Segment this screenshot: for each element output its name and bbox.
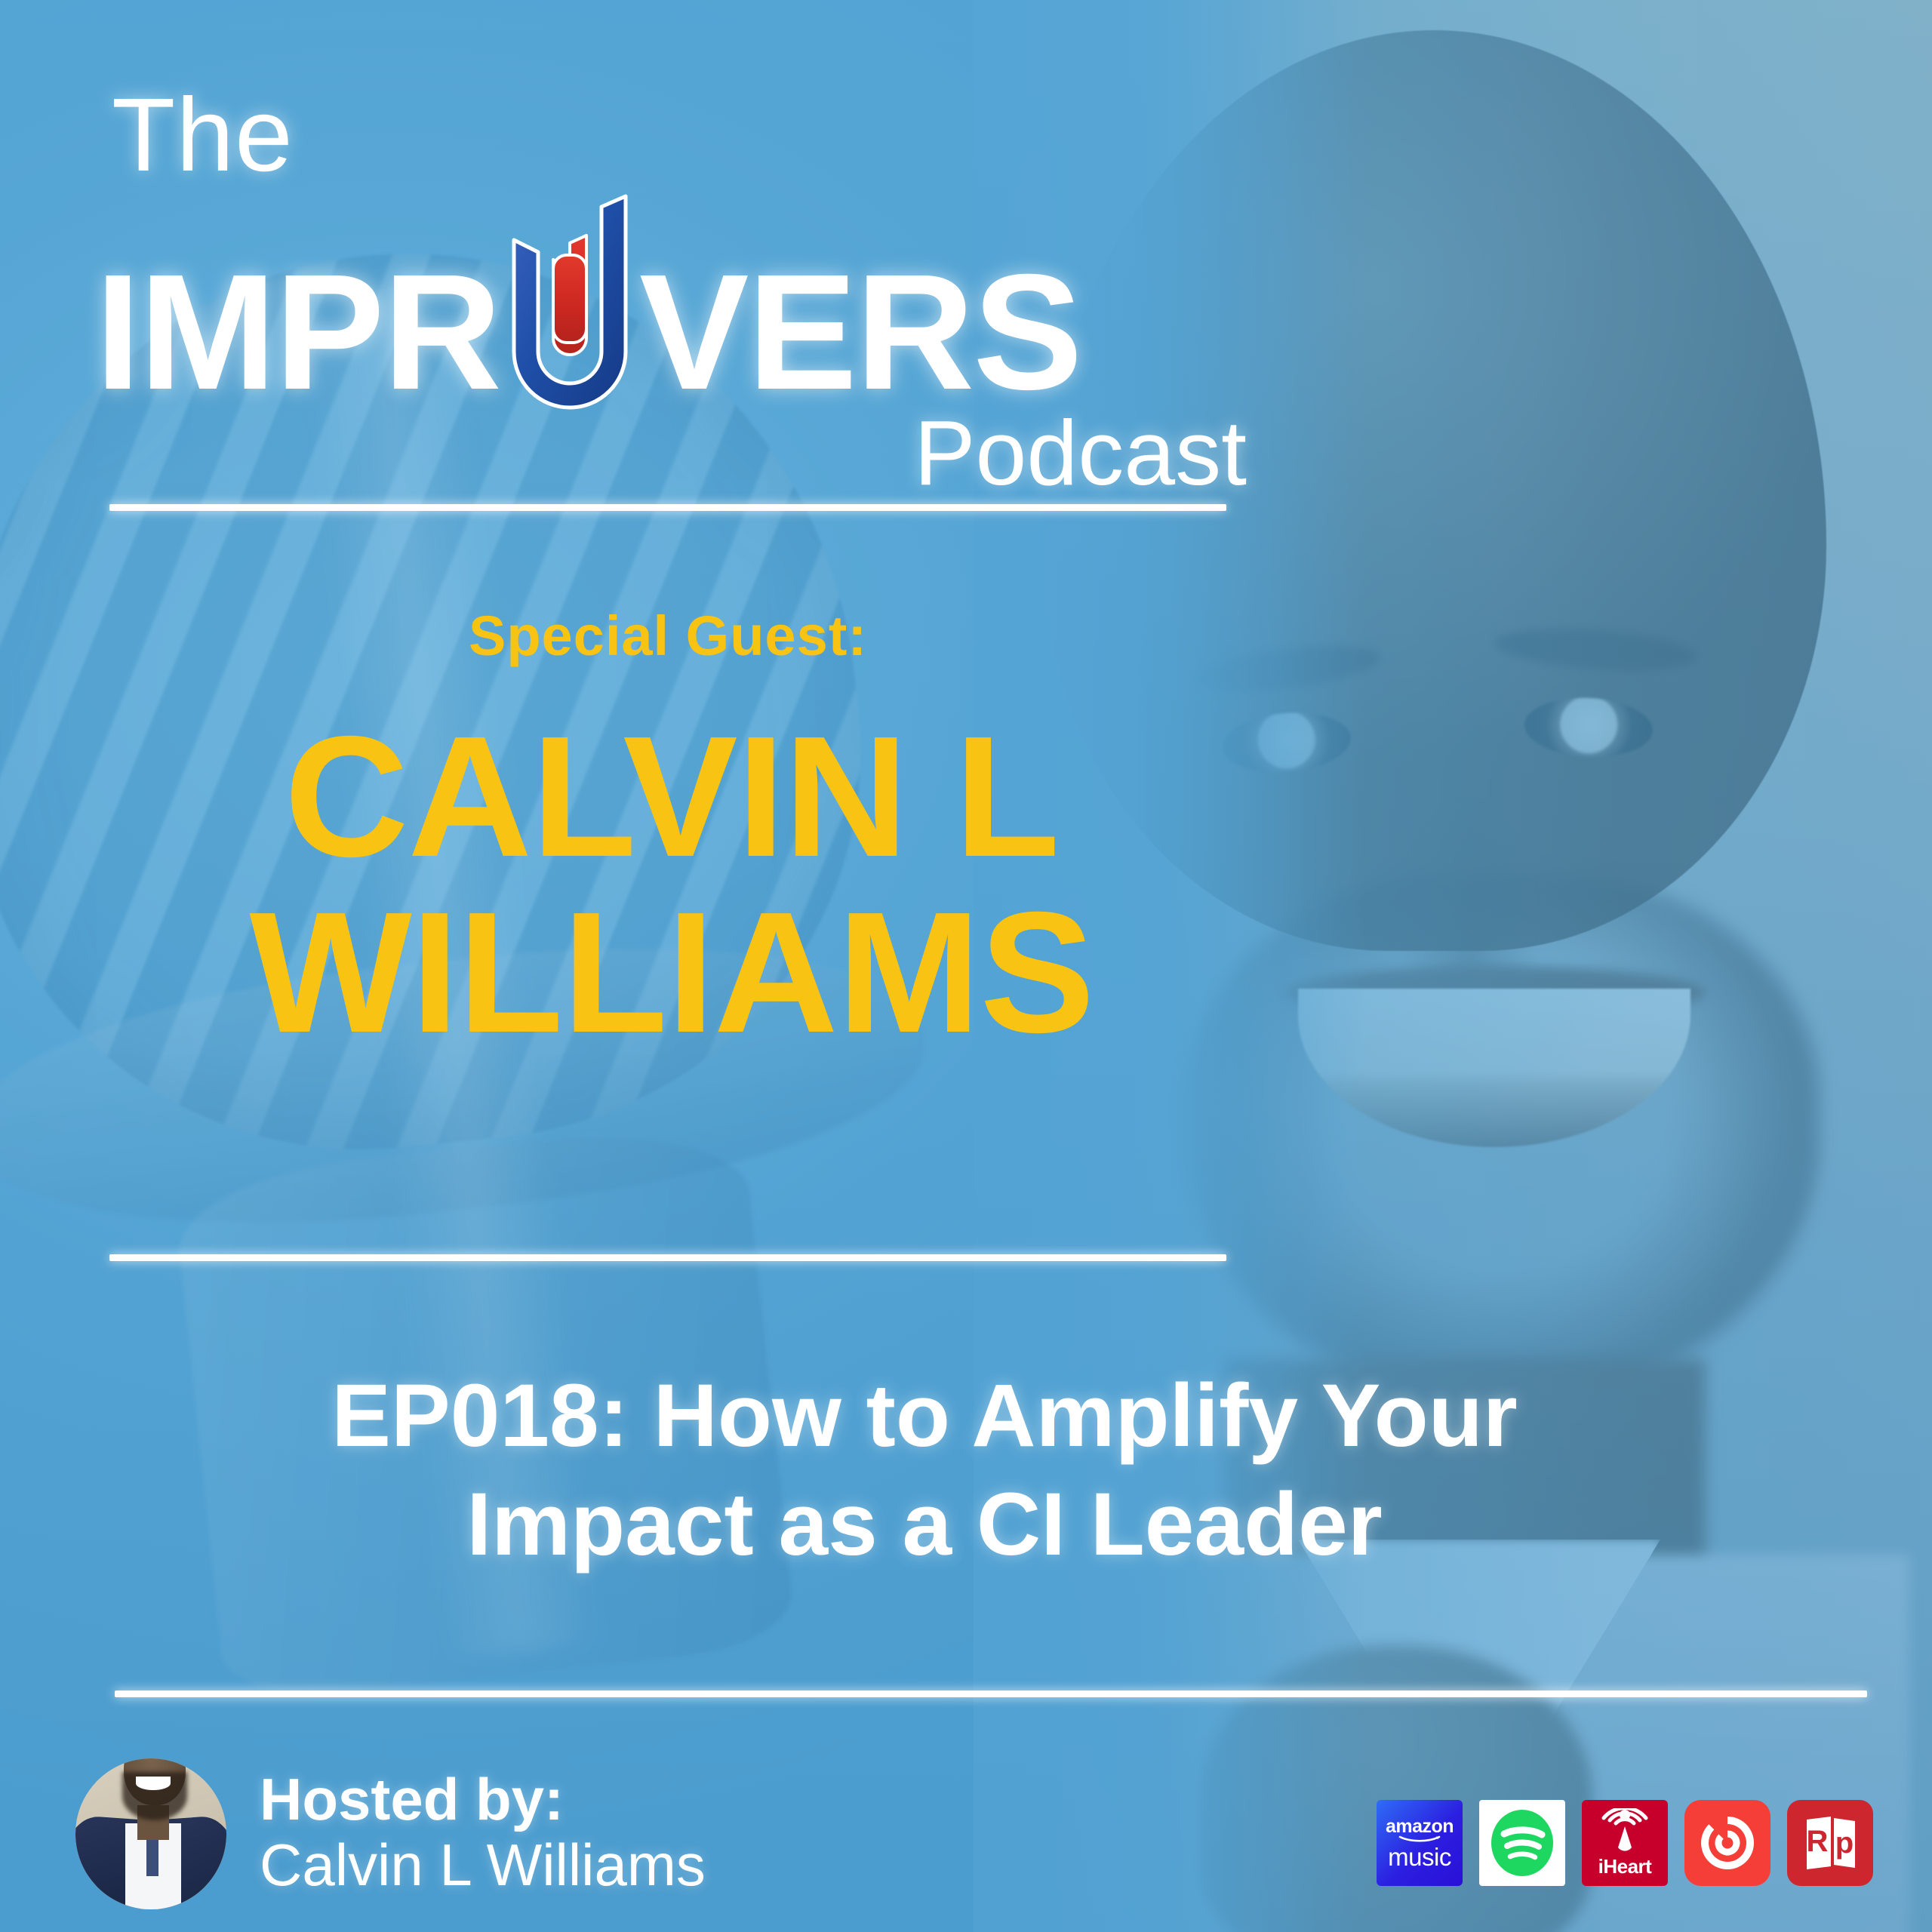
spotify-icon <box>1486 1807 1558 1879</box>
platform-badges: amazon music <box>1377 1800 1873 1886</box>
logo-the-text: The <box>112 83 1253 187</box>
special-guest-label: Special Guest: <box>98 604 1238 668</box>
svg-text:p: p <box>1835 1826 1854 1860</box>
logo-vers-text: VERS <box>639 254 1081 411</box>
music-label: music <box>1388 1844 1451 1869</box>
divider-bottom <box>115 1690 1867 1697</box>
iheart-waves-icon <box>1598 1808 1652 1854</box>
cover-content: The IMPR <box>0 0 1932 1932</box>
amazon-music-badge[interactable]: amazon music <box>1377 1800 1463 1886</box>
guest-name-line-2: WILLIAMS <box>83 885 1260 1061</box>
guest-name-line-1: CALVIN L <box>83 709 1260 885</box>
iheart-label: iHeart <box>1598 1855 1652 1878</box>
pocket-casts-badge[interactable] <box>1684 1800 1770 1886</box>
avatar-smile <box>136 1777 171 1790</box>
episode-title: EP018: How to Amplify Your Impact as a C… <box>113 1362 1736 1580</box>
divider-top <box>109 504 1226 511</box>
amazon-music-icon: amazon music <box>1386 1817 1454 1869</box>
episode-title-line-2: Impact as a CI Leader <box>113 1471 1736 1580</box>
svg-text:R: R <box>1807 1825 1829 1858</box>
avatar-tie <box>146 1837 158 1876</box>
divider-middle <box>109 1254 1226 1261</box>
radiopublic-badge[interactable]: R p <box>1787 1800 1873 1886</box>
pocket-casts-icon <box>1696 1811 1759 1875</box>
iheart-icon: iHeart <box>1598 1808 1652 1878</box>
radiopublic-icon: R p <box>1801 1814 1860 1872</box>
iheartradio-badge[interactable]: iHeart <box>1582 1800 1668 1886</box>
logo-impr-text: IMPR <box>95 254 500 411</box>
podcast-logo: The IMPR <box>98 83 1253 506</box>
amazon-label: amazon <box>1386 1817 1454 1836</box>
hosted-by-label: Hosted by: <box>260 1768 706 1831</box>
host-text: Hosted by: Calvin L Williams <box>260 1768 706 1900</box>
spotify-badge[interactable] <box>1479 1800 1565 1886</box>
guest-name: CALVIN L WILLIAMS <box>83 709 1260 1060</box>
amazon-smile-icon <box>1398 1835 1441 1842</box>
logo-wordmark: IMPR <box>95 190 1253 411</box>
logo-u-microphone-icon <box>503 190 636 417</box>
host-name: Calvin L Williams <box>260 1830 706 1900</box>
podcast-cover-art: The IMPR <box>0 0 1932 1932</box>
episode-title-line-1: EP018: How to Amplify Your <box>113 1362 1736 1471</box>
host-avatar <box>75 1758 226 1909</box>
host-row: Hosted by: Calvin L Williams <box>75 1758 706 1909</box>
